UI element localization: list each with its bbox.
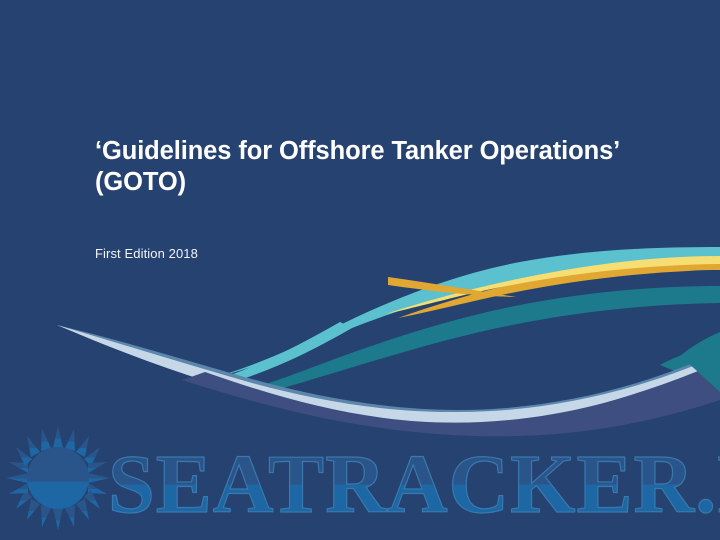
title-slide: ‘Guidelines for Offshore Tanker Operatio…: [0, 0, 720, 540]
title-text-block: ‘Guidelines for Offshore Tanker Operatio…: [95, 136, 635, 263]
wave-artwork: [0, 0, 720, 540]
slide-subtitle: First Edition 2018: [95, 198, 635, 263]
page-title: ‘Guidelines for Offshore Tanker Operatio…: [95, 136, 635, 198]
